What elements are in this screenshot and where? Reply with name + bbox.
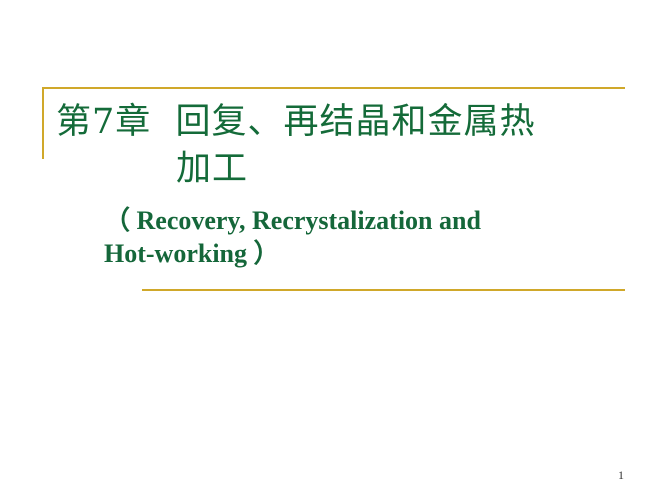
slide-subtitle: （ Recovery, Recrystalization and Hot-wor… [104, 204, 624, 270]
slide-title-line-1: 第7章 回复、再结晶和金属热 [56, 99, 636, 146]
slide-canvas: 第7章 回复、再结晶和金属热 加工 （ Recovery, Recrystali… [0, 0, 668, 502]
page-number: 1 [618, 468, 642, 482]
slide-title-line-2: 加工 [56, 146, 636, 193]
title-rule-bottom [142, 289, 625, 291]
slide-subtitle-line-2: Hot-working ） [104, 237, 624, 270]
title-rule-top [42, 87, 625, 89]
slide-title: 第7章 回复、再结晶和金属热 加工 [56, 99, 636, 193]
title-rule-left [42, 87, 44, 159]
slide-subtitle-line-1: （ Recovery, Recrystalization and [104, 204, 624, 237]
